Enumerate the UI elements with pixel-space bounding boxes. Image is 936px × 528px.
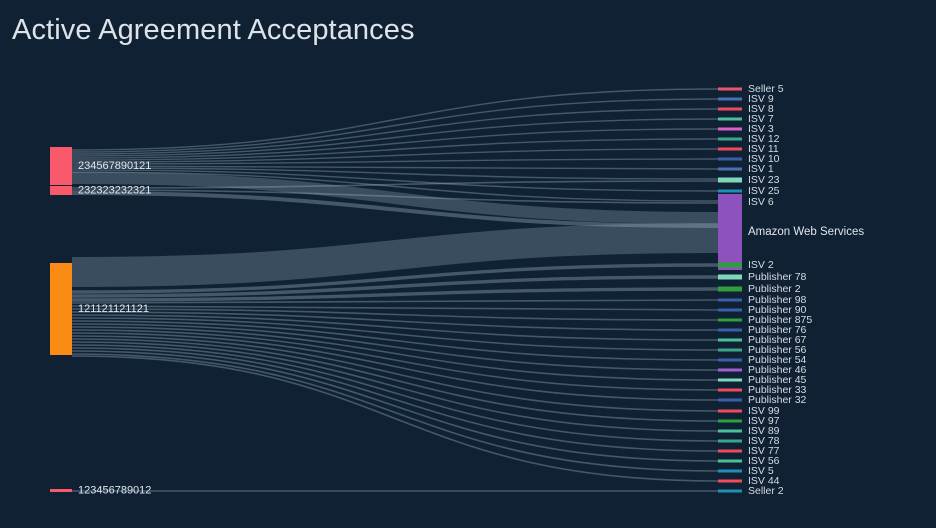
sankey-link [72,351,718,461]
target-node[interactable] [718,359,742,362]
target-node[interactable] [718,88,742,91]
target-node[interactable] [718,309,742,312]
target-node[interactable] [718,138,742,141]
target-node[interactable] [718,190,742,193]
target-node[interactable] [718,440,742,443]
sankey-links-group [72,89,718,491]
target-node[interactable] [718,274,742,279]
source-node-label: 234567890121 [78,160,151,172]
target-node-label: ISV 2 [748,259,774,271]
target-node[interactable] [718,410,742,413]
source-node[interactable] [50,147,72,185]
target-node[interactable] [718,98,742,101]
target-node[interactable] [718,158,742,161]
sankey-diagram: 2345678901212323232323211211211211211234… [0,0,936,528]
target-node[interactable] [718,148,742,151]
target-node[interactable] [718,480,742,483]
target-node[interactable] [718,339,742,342]
source-node[interactable] [50,186,72,195]
target-node[interactable] [718,389,742,392]
sankey-link [72,149,718,162]
target-node[interactable] [718,420,742,423]
target-node[interactable] [718,286,742,291]
target-node[interactable] [718,460,742,463]
sankey-link [72,348,718,451]
source-node-label: 232323232321 [78,184,151,196]
target-node[interactable] [718,379,742,382]
target-node[interactable] [718,490,742,493]
target-node[interactable] [718,369,742,372]
target-node[interactable] [718,108,742,111]
sankey-chart-page: Active Agreement Acceptances 23456789012… [0,0,936,528]
target-node[interactable] [718,349,742,352]
source-node[interactable] [50,489,72,492]
target-node[interactable] [718,262,742,267]
sankey-link [72,324,718,370]
target-node[interactable] [718,319,742,322]
target-node[interactable] [718,128,742,131]
source-node-label: 123456789012 [78,484,151,496]
sankey-link [72,354,718,471]
target-node[interactable] [718,118,742,121]
target-node-label: ISV 6 [748,196,774,208]
sankey-link [72,89,718,150]
source-node-label: 121121121121 [78,303,149,315]
sankey-link [72,129,718,158]
target-node[interactable] [718,450,742,453]
target-node[interactable] [718,299,742,302]
target-node[interactable] [718,177,742,182]
target-node[interactable] [718,168,742,171]
target-node[interactable] [718,430,742,433]
target-node[interactable] [718,470,742,473]
target-node[interactable] [718,329,742,332]
target-node-label: Seller 2 [748,485,784,497]
source-node[interactable] [50,263,72,355]
target-node[interactable] [718,194,742,270]
sankey-link [72,333,718,400]
target-node[interactable] [718,399,742,402]
target-node-label: Publisher 78 [748,271,807,283]
target-node-label: Amazon Web Services [748,226,864,238]
